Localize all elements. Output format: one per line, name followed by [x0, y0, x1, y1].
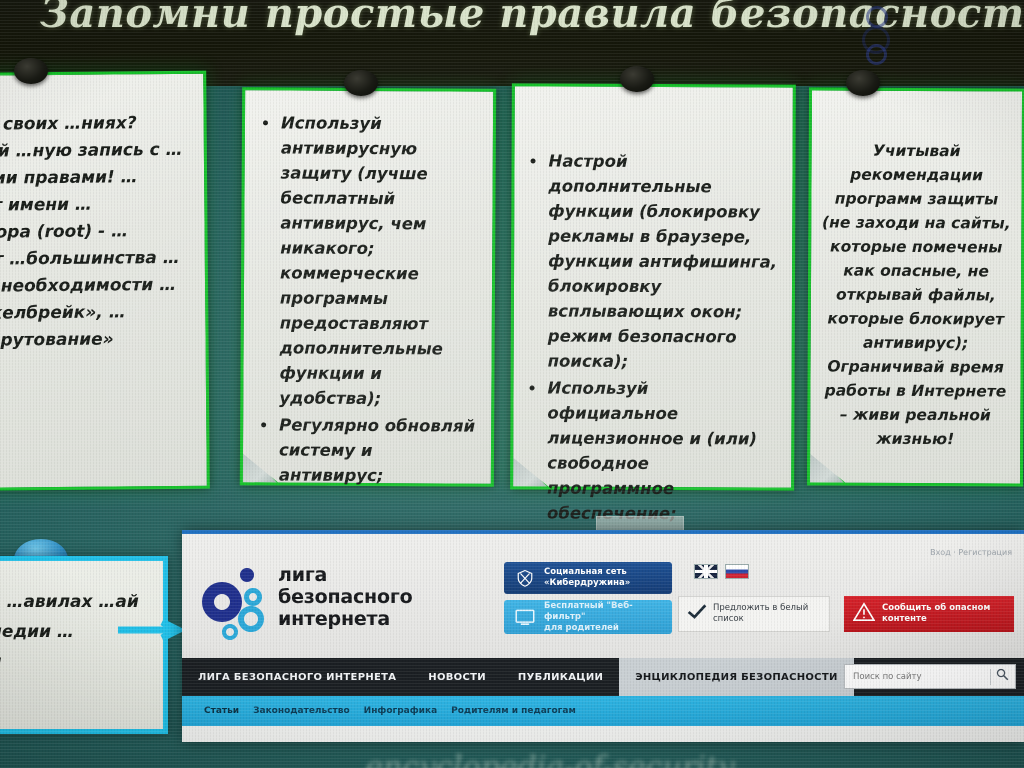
note-card-rights: …верен в своих …ниях? Используй …ную зап…	[0, 71, 210, 492]
page-title: Запомни простые правила безопасности:	[40, 0, 940, 48]
language-switcher[interactable]	[694, 564, 749, 579]
whitelist-line-1: Предложить в белый	[713, 603, 808, 613]
note-card-browser: Настрой дополнительные функции (блокиров…	[510, 83, 796, 490]
card-bullet-list: Настрой дополнительные функции (блокиров…	[525, 148, 781, 526]
logo-circles-icon	[200, 566, 272, 636]
nav-item-news[interactable]: НОВОСТИ	[412, 658, 502, 696]
monitor-icon	[514, 607, 536, 627]
promo-line-1: Социальная сеть	[544, 567, 627, 577]
card-bullet-list: Используй антивирусную защиту (лучше бес…	[257, 110, 481, 488]
presentation-slide: Запомни простые правила безопасности: …в…	[0, 0, 1024, 768]
logo-line-3: интернета	[278, 608, 428, 630]
search-icon[interactable]	[996, 668, 1009, 686]
arrow-right-icon	[118, 620, 190, 640]
card-bullet: Используй официальное лицензионное и (ил…	[525, 375, 780, 526]
promo-line-2: «Кибердружина»	[544, 578, 630, 588]
flag-uk-icon[interactable]	[694, 564, 718, 579]
site-header: лига безопасного интернета Социальная се…	[182, 534, 1024, 658]
nav-item-league[interactable]: ЛИГА БЕЗОПАСНОГО ИНТЕРНЕТА	[182, 658, 412, 696]
card-bullet: Регулярно обновляй систему и антивирус;	[257, 412, 479, 488]
flag-ru-icon[interactable]	[725, 564, 749, 579]
logo-line-2: безопасного	[278, 586, 428, 608]
note-card-antivirus: Используй антивирусную защиту (лучше бес…	[240, 87, 496, 487]
search-divider	[990, 669, 991, 685]
subnav-item-articles[interactable]: Статьи	[204, 706, 239, 716]
card-text: Учитывай рекомендации программ защиты (н…	[810, 90, 1022, 451]
callout-text: …робнее …авилах …ай …циклопедии …пасност…	[0, 561, 163, 677]
site-logo[interactable]: лига безопасного интернета	[200, 562, 420, 638]
pin-icon	[846, 70, 880, 96]
note-card-recommendations: Учитывай рекомендации программ защиты (н…	[807, 87, 1024, 486]
whitelist-line-2: список	[713, 614, 744, 624]
auth-links[interactable]: Вход · Регистрация	[930, 548, 1012, 557]
logo-watermark-circle-icon	[866, 44, 887, 65]
site-content-area	[182, 726, 1024, 742]
promo-line-1: Бесплатный "Веб-фильтр"	[544, 601, 633, 622]
logo-watermark-circle-icon	[866, 6, 888, 28]
pin-icon	[14, 58, 48, 84]
card-bullet: Настрой дополнительные функции (блокиров…	[526, 148, 781, 374]
nav-item-encyclopedia[interactable]: ЭНЦИКЛОПЕДИЯ БЕЗОПАСНОСТИ	[619, 658, 853, 696]
check-icon	[687, 604, 707, 624]
website-screenshot: лига безопасного интернета Социальная се…	[182, 530, 1024, 742]
search-input[interactable]	[851, 671, 985, 683]
warning-triangle-icon	[853, 602, 875, 626]
callout-box: …робнее …авилах …ай …циклопедии …пасност…	[0, 556, 168, 734]
pin-icon	[344, 70, 378, 96]
page-fold-corner	[807, 451, 849, 485]
promo-button-webfilter[interactable]: Бесплатный "Веб-фильтр" для родителей	[504, 600, 672, 634]
nav-item-publications[interactable]: ПУБЛИКАЦИИ	[502, 658, 619, 696]
card-bullet: Используй антивирусную защиту (лучше бес…	[257, 110, 481, 411]
site-main-nav: ЛИГА БЕЗОПАСНОГО ИНТЕРНЕТА НОВОСТИ ПУБЛИ…	[182, 658, 1024, 696]
shield-icon	[514, 568, 536, 588]
report-line-1: Сообщить об опасном	[882, 603, 990, 613]
report-danger-button[interactable]: Сообщить об опасном контенте	[844, 596, 1014, 632]
pin-icon	[620, 66, 654, 92]
promo-line-2: для родителей	[544, 623, 619, 633]
whitelist-button[interactable]: Предложить в белый список	[678, 596, 830, 632]
bottom-caption: encyclopedia-of-security	[170, 750, 930, 768]
site-sub-nav: Статьи Законодательство Инфографика Роди…	[182, 696, 1024, 726]
subnav-item-parents-teachers[interactable]: Родителям и педагогам	[451, 706, 576, 716]
logo-line-1: лига	[278, 564, 428, 586]
subnav-item-infographics[interactable]: Инфографика	[364, 706, 438, 716]
report-line-2: контенте	[882, 614, 927, 624]
site-search[interactable]	[844, 664, 1016, 689]
promo-button-cyberdruzhina[interactable]: Социальная сеть «Кибердружина»	[504, 562, 672, 594]
card-text: …верен в своих …ниях? Используй …ную зап…	[0, 74, 206, 356]
subnav-item-legislation[interactable]: Законодательство	[253, 706, 350, 716]
